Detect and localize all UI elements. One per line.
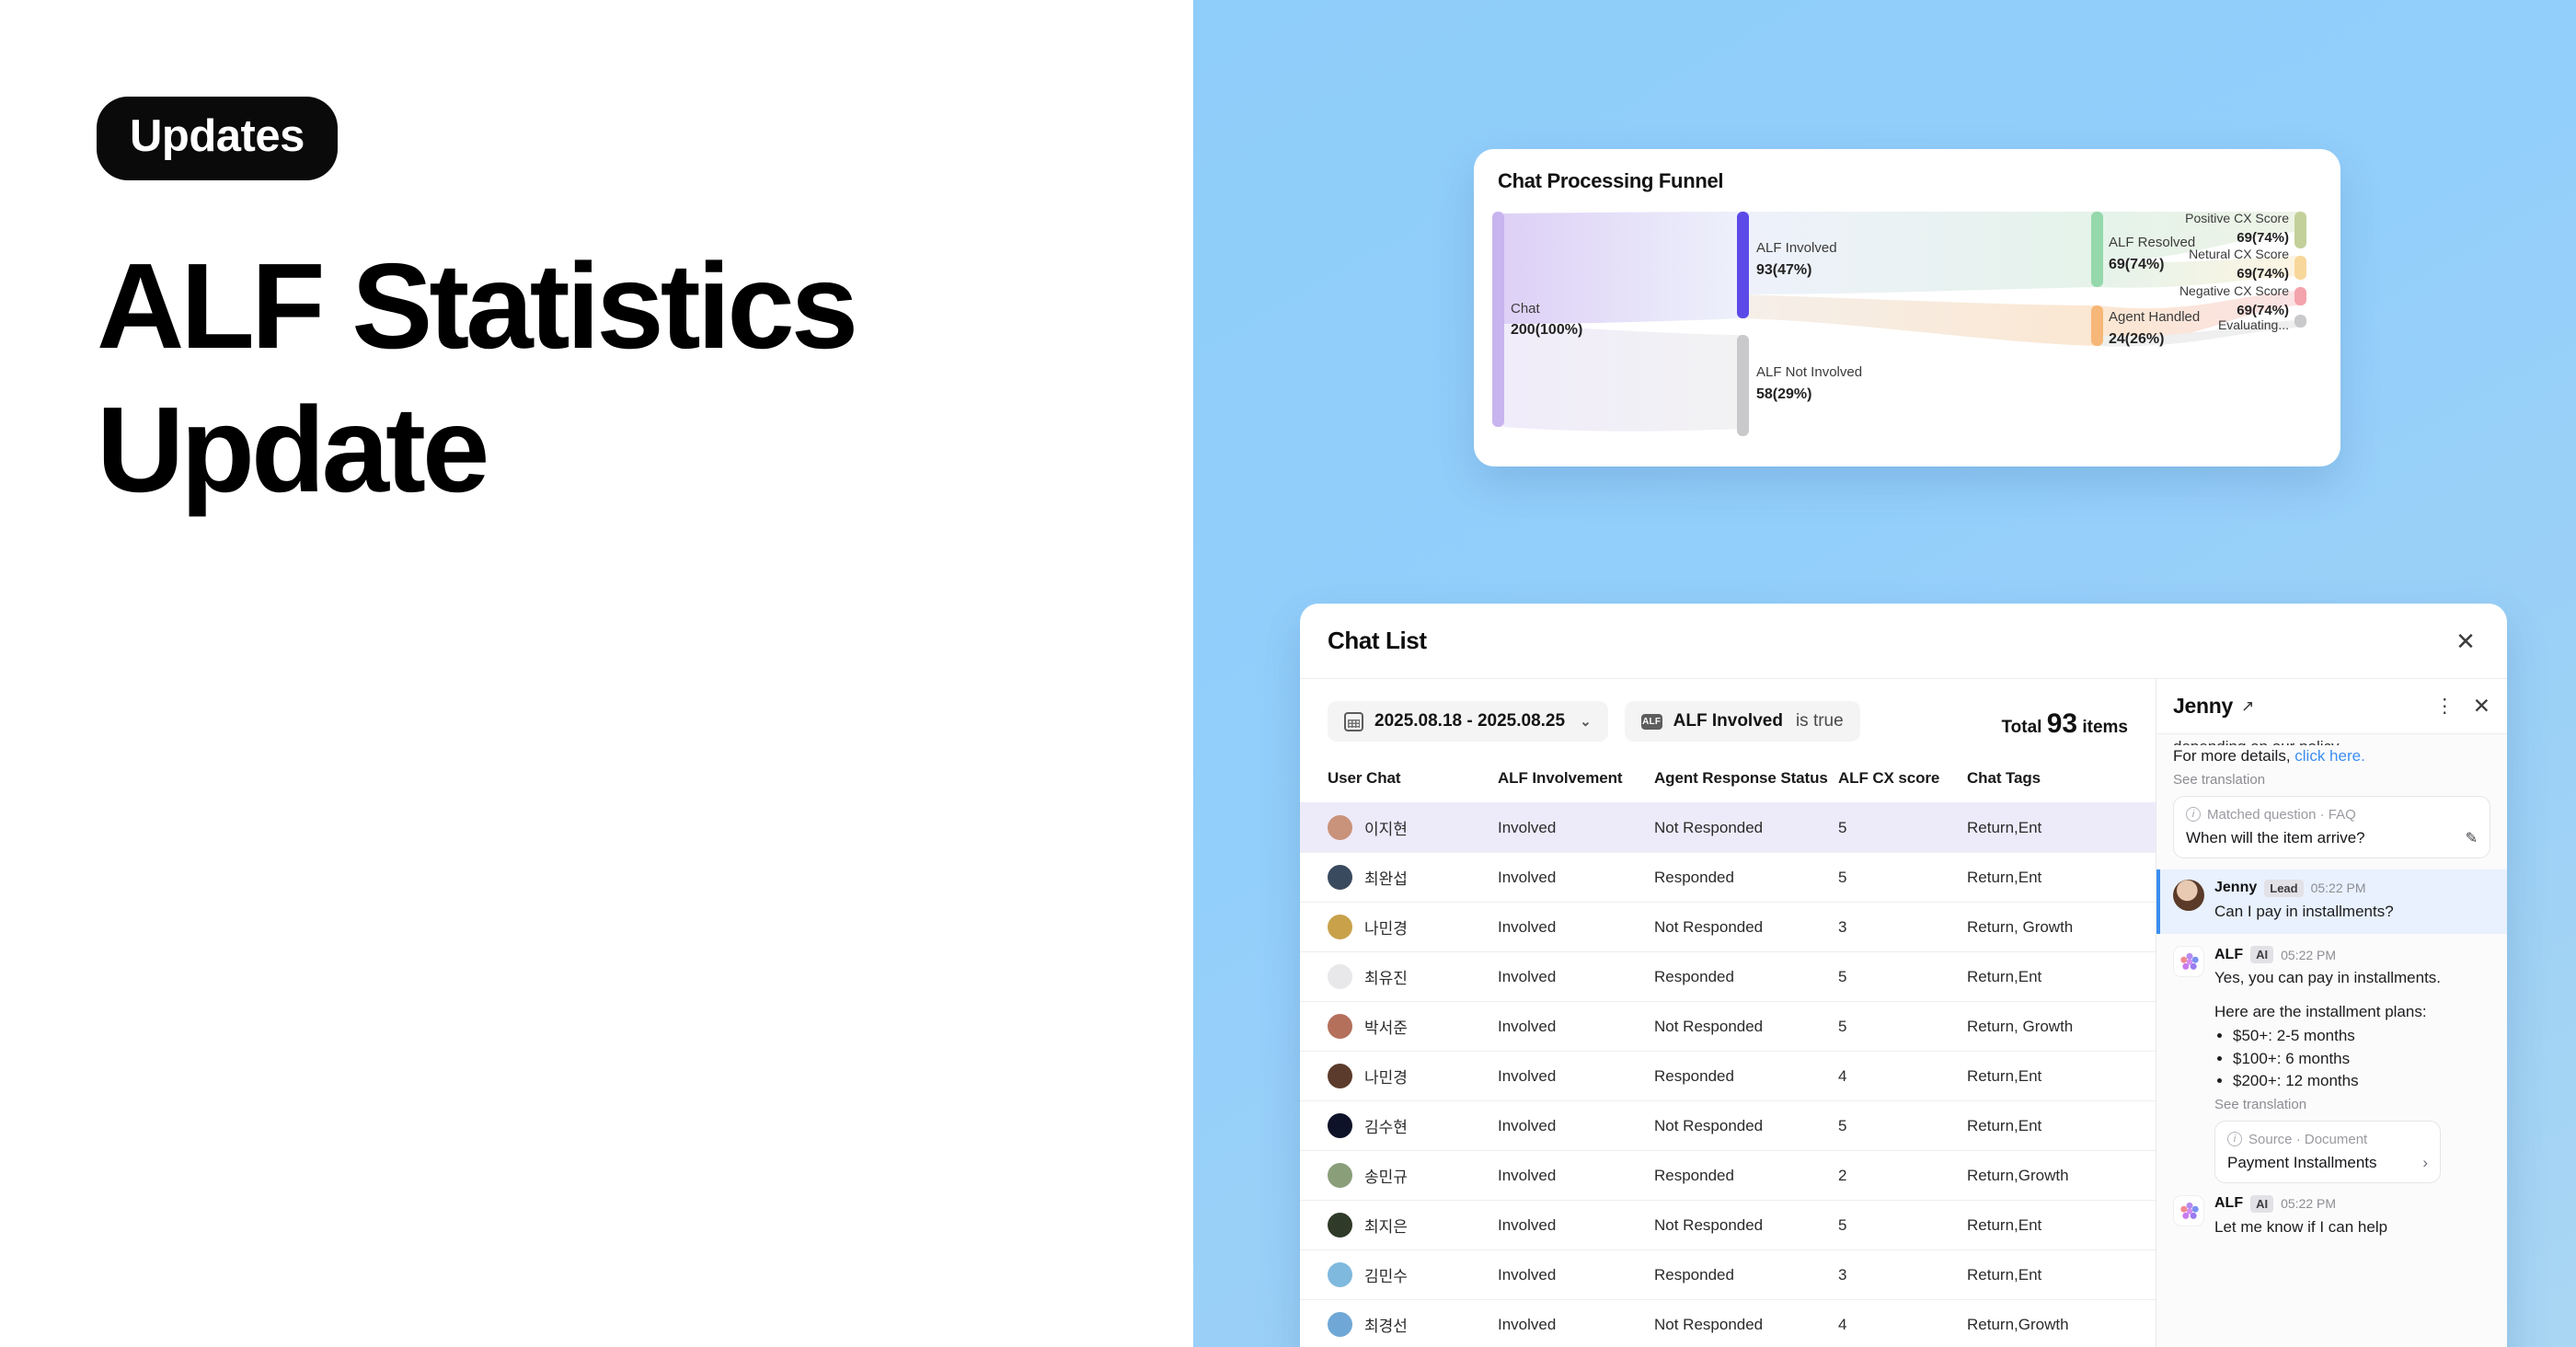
chat-list-header: Chat List ✕ xyxy=(1300,604,2507,679)
sankey-node-chat xyxy=(1492,212,1504,427)
chat-table-body: 이지현InvolvedNot Responded5Return,Ent최완섭In… xyxy=(1300,803,2156,1347)
hero-section: Updates ALF Statistics Update xyxy=(0,0,1193,1347)
avatar xyxy=(1328,1014,1352,1039)
user-name: 박서준 xyxy=(1364,1015,1408,1038)
cell-involvement: Involved xyxy=(1498,1250,1654,1300)
funnel-card-title: Chat Processing Funnel xyxy=(1498,169,2317,193)
cell-user: 나민경 xyxy=(1300,903,1498,952)
total-prefix: Total xyxy=(2001,718,2041,737)
sankey-label-negative-cx: Negative CX Score xyxy=(2179,283,2289,298)
list-item: $50+: 2-5 months xyxy=(2233,1025,2441,1048)
message-ai-alf-2: ALF AI 05:22 PM Let me know if I can hel… xyxy=(2173,1195,2490,1238)
page-title: ALF Statistics Update xyxy=(97,235,925,522)
sankey-node-positive-cx xyxy=(2294,212,2306,248)
cell-score: 4 xyxy=(1838,1300,1967,1347)
sankey-value-negative-cx: 69(74%) xyxy=(2237,303,2289,318)
cell-status: Not Responded xyxy=(1654,1201,1838,1250)
cell-status: Responded xyxy=(1654,853,1838,903)
cell-score: 5 xyxy=(1838,952,1967,1002)
chevron-down-icon: ⌄ xyxy=(1580,713,1592,730)
table-row[interactable]: 송민규InvolvedResponded2Return,Growth xyxy=(1300,1151,2156,1201)
more-options-icon[interactable]: ⋮ xyxy=(2435,697,2455,716)
alf-filter-operator: is true xyxy=(1796,711,1844,731)
avatar xyxy=(1328,1213,1352,1238)
date-range-value: 2025.08.18 - 2025.08.25 xyxy=(1374,711,1565,731)
total-suffix: items xyxy=(2082,718,2128,737)
message-sender: ALF xyxy=(2214,1195,2243,1212)
user-name: 이지현 xyxy=(1364,816,1408,839)
message-role-badge: Lead xyxy=(2264,880,2303,897)
cell-tags: Return,Ent xyxy=(1967,952,2156,1002)
table-row[interactable]: 김수현InvolvedNot Responded5Return,Ent xyxy=(1300,1101,2156,1151)
blue-backdrop: Chat Processing Funnel xyxy=(1193,0,2576,1347)
info-icon: i xyxy=(2227,1132,2242,1146)
sankey-value-alf-involved: 93(47%) xyxy=(1756,262,1811,278)
source-document-box[interactable]: i Source · Document Payment Installments… xyxy=(2214,1121,2441,1183)
avatar xyxy=(1328,1262,1352,1287)
cell-score: 4 xyxy=(1838,1052,1967,1101)
message-time: 05:22 PM xyxy=(2311,881,2366,895)
table-row[interactable]: 나민경InvolvedNot Responded3Return, Growth xyxy=(1300,903,2156,952)
avatar xyxy=(1328,1113,1352,1138)
sankey-value-netural-cx: 69(74%) xyxy=(2237,266,2289,282)
partial-message-line: depending on our policy. xyxy=(2173,736,2490,745)
cell-tags: Return, Growth xyxy=(1967,903,2156,952)
cell-user: 최완섭 xyxy=(1300,853,1498,903)
list-item: $200+: 12 months xyxy=(2233,1070,2441,1093)
screenshot-root: Updates ALF Statistics Update Chat Proce… xyxy=(0,0,2576,1347)
chat-detail-header: Jenny ↗ ⋮ ✕ xyxy=(2156,679,2507,734)
user-name: 나민경 xyxy=(1364,1065,1408,1088)
message-body: Let me know if I can help xyxy=(2214,1216,2387,1238)
sankey-value-alf-resolved: 69(74%) xyxy=(2109,257,2164,272)
message-role-badge: AI xyxy=(2250,1195,2273,1213)
source-document-title: Payment Installments xyxy=(2227,1154,2377,1172)
avatar xyxy=(1328,1163,1352,1188)
click-here-link[interactable]: click here. xyxy=(2294,747,2365,765)
cell-tags: Return,Ent xyxy=(1967,1101,2156,1151)
sankey-node-alf-involved xyxy=(1737,212,1749,318)
cell-score: 3 xyxy=(1838,1250,1967,1300)
message-meta: Jenny Lead 05:22 PM xyxy=(2214,880,2394,897)
sankey-label-evaluating: Evaluating... xyxy=(2218,317,2289,332)
message-line-text: For more details, xyxy=(2173,747,2294,765)
table-row[interactable]: 최지은InvolvedNot Responded5Return,Ent xyxy=(1300,1201,2156,1250)
alf-involved-filter[interactable]: ALF ALF Involved is true xyxy=(1625,701,1860,742)
user-name: 나민경 xyxy=(1364,915,1408,938)
cell-tags: Return,Growth xyxy=(1967,1151,2156,1201)
column-header-alf-involvement[interactable]: ALF Involvement xyxy=(1498,756,1654,803)
chat-table-region: 2025.08.18 - 2025.08.25 ⌄ ALF ALF Involv… xyxy=(1300,679,2156,1347)
matched-question-box: i Matched question · FAQ When will the i… xyxy=(2173,796,2490,858)
table-row[interactable]: 박서준InvolvedNot Responded5Return, Growth xyxy=(1300,1002,2156,1052)
info-icon: i xyxy=(2186,807,2201,822)
list-item: $100+: 6 months xyxy=(2233,1048,2441,1071)
message-sender: Jenny xyxy=(2214,880,2257,896)
chat-detail-pane: Jenny ↗ ⋮ ✕ depending on our policy. For… xyxy=(2156,679,2507,1347)
user-name: 최경선 xyxy=(1364,1313,1408,1336)
table-row[interactable]: 최완섭InvolvedResponded5Return,Ent xyxy=(1300,853,2156,903)
cell-status: Not Responded xyxy=(1654,903,1838,952)
see-translation-2[interactable]: See translation xyxy=(2214,1097,2441,1112)
cell-status: Not Responded xyxy=(1654,1300,1838,1347)
cell-tags: Return,Ent xyxy=(1967,803,2156,853)
cell-tags: Return,Ent xyxy=(1967,1250,2156,1300)
cell-status: Not Responded xyxy=(1654,803,1838,853)
table-row[interactable]: 김민수InvolvedResponded3Return,Ent xyxy=(1300,1250,2156,1300)
sankey-chart: Chat 200(100%) ALF Involved 93(47%) ALF … xyxy=(1490,206,2324,445)
filter-bar: 2025.08.18 - 2025.08.25 ⌄ ALF ALF Involv… xyxy=(1300,679,2156,756)
cell-score: 5 xyxy=(1838,853,1967,903)
cell-score: 3 xyxy=(1838,903,1967,952)
sankey-label-agent-handled: Agent Handled xyxy=(2109,309,2200,325)
cell-user: 김민수 xyxy=(1300,1250,1498,1300)
cell-status: Responded xyxy=(1654,1250,1838,1300)
source-document-header: i Source · Document xyxy=(2227,1132,2428,1147)
edit-icon[interactable]: ✎ xyxy=(2466,829,2478,847)
cell-involvement: Involved xyxy=(1498,803,1654,853)
alf-avatar-icon xyxy=(2173,946,2204,977)
avatar xyxy=(1328,815,1352,840)
installment-plan-list: $50+: 2-5 months$100+: 6 months$200+: 12… xyxy=(2233,1025,2441,1093)
cell-score: 5 xyxy=(1838,1002,1967,1052)
cell-user: 최지은 xyxy=(1300,1201,1498,1250)
cell-user: 이지현 xyxy=(1300,803,1498,853)
chat-list-title: Chat List xyxy=(1328,627,1427,655)
message-sender: ALF xyxy=(2214,947,2243,963)
cell-score: 5 xyxy=(1838,803,1967,853)
table-header-row: User Chat ALF Involvement Agent Response… xyxy=(1300,756,2156,803)
cell-tags: Return,Ent xyxy=(1967,1052,2156,1101)
source-document-label: Source · Document xyxy=(2248,1132,2367,1147)
avatar xyxy=(1328,1064,1352,1088)
calendar-icon xyxy=(1344,712,1363,731)
message-meta: ALF AI 05:22 PM xyxy=(2214,946,2441,963)
avatar xyxy=(1328,964,1352,989)
alf-filter-name: ALF Involved xyxy=(1673,711,1783,731)
avatar xyxy=(1328,915,1352,939)
message-ai-alf-1: ALF AI 05:22 PM Yes, you can pay in inst… xyxy=(2173,946,2490,1183)
cell-status: Responded xyxy=(1654,1052,1838,1101)
user-name: 김수현 xyxy=(1364,1114,1408,1137)
cell-user: 최경선 xyxy=(1300,1300,1498,1347)
cell-user: 송민규 xyxy=(1300,1151,1498,1201)
cell-involvement: Involved xyxy=(1498,1052,1654,1101)
sankey-node-alf-resolved xyxy=(2091,212,2103,287)
table-row[interactable]: 최경선InvolvedNot Responded4Return,Growth xyxy=(1300,1300,2156,1347)
chat-detail-tools: ⋮ ✕ xyxy=(2435,696,2490,717)
matched-question-label: Matched question · FAQ xyxy=(2207,807,2356,823)
sankey-label-alf-not-involved: ALF Not Involved xyxy=(1756,364,1862,380)
avatar xyxy=(2173,880,2204,911)
alf-avatar-icon xyxy=(2173,1195,2204,1226)
avatar xyxy=(1328,865,1352,890)
chat-processing-funnel-card: Chat Processing Funnel xyxy=(1474,149,2340,466)
cell-user: 김수현 xyxy=(1300,1101,1498,1151)
table-row[interactable]: 최유진InvolvedResponded5Return,Ent xyxy=(1300,952,2156,1002)
sankey-label-chat: Chat xyxy=(1511,301,1541,317)
chevron-right-icon: › xyxy=(2422,1154,2428,1172)
sankey-node-negative-cx xyxy=(2294,287,2306,305)
cell-involvement: Involved xyxy=(1498,1151,1654,1201)
user-name: 최완섭 xyxy=(1364,866,1408,889)
column-header-chat-tags[interactable]: Chat Tags xyxy=(1967,756,2156,803)
cell-involvement: Involved xyxy=(1498,952,1654,1002)
cell-tags: Return, Growth xyxy=(1967,1002,2156,1052)
avatar xyxy=(1328,1312,1352,1337)
message-user-jenny: Jenny Lead 05:22 PM Can I pay in install… xyxy=(2156,869,2507,935)
message-thread: depending on our policy. For more detail… xyxy=(2156,734,2507,1238)
matched-question-header: i Matched question · FAQ xyxy=(2186,807,2478,823)
message-body: Yes, you can pay in installments. xyxy=(2214,967,2441,989)
cell-score: 5 xyxy=(1838,1101,1967,1151)
cell-involvement: Involved xyxy=(1498,1300,1654,1347)
chat-detail-name: Jenny xyxy=(2173,694,2233,719)
column-header-agent-response-status[interactable]: Agent Response Status xyxy=(1654,756,1838,803)
close-icon[interactable]: ✕ xyxy=(2450,626,2481,657)
cell-involvement: Involved xyxy=(1498,903,1654,952)
user-name: 최유진 xyxy=(1364,965,1408,988)
column-header-user-chat[interactable]: User Chat xyxy=(1300,756,1498,803)
cell-user: 최유진 xyxy=(1300,952,1498,1002)
cell-tags: Return,Ent xyxy=(1967,1201,2156,1250)
matched-question-text: When will the item arrive? xyxy=(2186,829,2365,847)
updates-badge: Updates xyxy=(97,97,338,180)
table-row[interactable]: 나민경InvolvedResponded4Return,Ent xyxy=(1300,1052,2156,1101)
sankey-value-chat: 200(100%) xyxy=(1511,322,1582,338)
sankey-label-positive-cx: Positive CX Score xyxy=(2185,211,2289,225)
total-count: 93 xyxy=(2047,708,2077,739)
source-document-value[interactable]: Payment Installments › xyxy=(2227,1154,2428,1172)
sankey-value-agent-handled: 24(26%) xyxy=(2109,331,2164,347)
cell-score: 2 xyxy=(1838,1151,1967,1201)
message-meta: ALF AI 05:22 PM xyxy=(2214,1195,2387,1213)
message-role-badge: AI xyxy=(2250,946,2273,963)
sankey-node-agent-handled xyxy=(2091,305,2103,346)
sankey-node-evaluating xyxy=(2294,315,2306,328)
cell-status: Responded xyxy=(1654,1151,1838,1201)
user-name: 송민규 xyxy=(1364,1164,1408,1187)
see-translation-1[interactable]: See translation xyxy=(2173,772,2490,788)
column-header-alf-cx-score[interactable]: ALF CX score xyxy=(1838,756,1967,803)
chat-table: User Chat ALF Involvement Agent Response… xyxy=(1300,756,2156,1347)
sankey-label-alf-involved: ALF Involved xyxy=(1756,240,1837,256)
cell-user: 나민경 xyxy=(1300,1052,1498,1101)
date-range-filter[interactable]: 2025.08.18 - 2025.08.25 ⌄ xyxy=(1328,701,1608,742)
matched-question-value[interactable]: When will the item arrive? ✎ xyxy=(2186,829,2478,847)
cell-status: Not Responded xyxy=(1654,1101,1838,1151)
cell-involvement: Involved xyxy=(1498,1201,1654,1250)
message-body-secondary: Here are the installment plans: xyxy=(2214,1001,2441,1023)
cell-score: 5 xyxy=(1838,1201,1967,1250)
chat-detail-close-icon[interactable]: ✕ xyxy=(2473,696,2490,717)
alf-icon: ALF xyxy=(1641,714,1662,730)
cell-status: Responded xyxy=(1654,952,1838,1002)
cell-user: 박서준 xyxy=(1300,1002,1498,1052)
chat-list-body: 2025.08.18 - 2025.08.25 ⌄ ALF ALF Involv… xyxy=(1300,679,2507,1347)
user-name: 김민수 xyxy=(1364,1263,1408,1286)
table-row[interactable]: 이지현InvolvedNot Responded5Return,Ent xyxy=(1300,803,2156,853)
cell-involvement: Involved xyxy=(1498,853,1654,903)
cell-involvement: Involved xyxy=(1498,1002,1654,1052)
user-name: 최지은 xyxy=(1364,1214,1408,1237)
open-external-icon[interactable]: ↗ xyxy=(2241,697,2254,716)
cell-tags: Return,Ent xyxy=(1967,853,2156,903)
sankey-node-netural-cx xyxy=(2294,256,2306,280)
cell-tags: Return,Growth xyxy=(1967,1300,2156,1347)
message-time: 05:22 PM xyxy=(2281,948,2336,962)
sankey-label-netural-cx: Netural CX Score xyxy=(2189,247,2289,261)
sankey-value-alf-not-involved: 58(29%) xyxy=(1756,386,1811,402)
message-line-with-link: For more details, click here. xyxy=(2173,745,2490,768)
sankey-value-positive-cx: 69(74%) xyxy=(2237,230,2289,246)
sankey-node-alf-not-involved xyxy=(1737,335,1749,436)
cell-status: Not Responded xyxy=(1654,1002,1838,1052)
message-body: Can I pay in installments? xyxy=(2214,901,2394,923)
cell-involvement: Involved xyxy=(1498,1101,1654,1151)
total-items: Total 93 items xyxy=(2001,708,2128,740)
message-time: 05:22 PM xyxy=(2281,1196,2336,1211)
sankey-label-alf-resolved: ALF Resolved xyxy=(2109,235,2195,250)
chat-list-panel: Chat List ✕ 2025.08.18 - 2025.08.25 ⌄ AL… xyxy=(1300,604,2507,1347)
